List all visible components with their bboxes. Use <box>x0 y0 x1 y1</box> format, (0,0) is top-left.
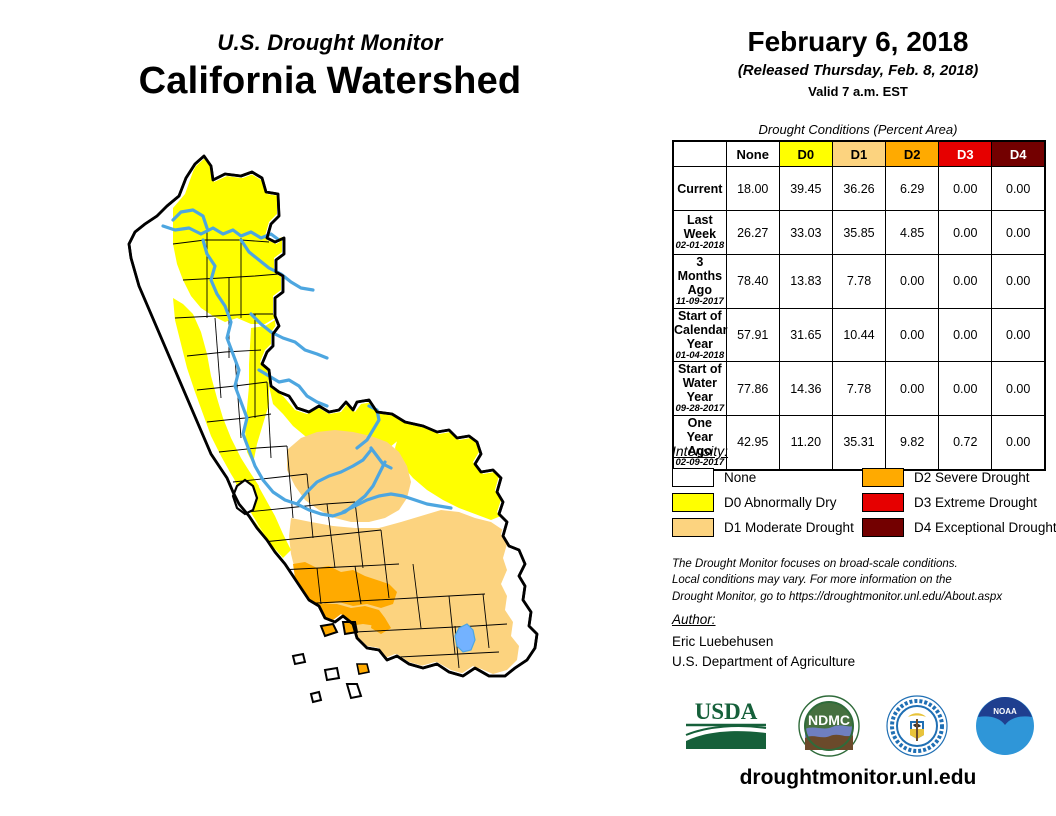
agency-logos: USDA NDMC <box>660 694 1056 758</box>
disclaimer-line-3: Drought Monitor, go to https://droughtmo… <box>672 589 1052 605</box>
map-panel: U.S. Drought Monitor California Watershe… <box>0 0 660 816</box>
info-panel: February 6, 2018 (Released Thursday, Feb… <box>660 0 1056 816</box>
legend-swatch-icon <box>862 518 904 537</box>
legend-item-right-0: D2 Severe Drought <box>862 465 1052 490</box>
cell-d3-3: 0.00 <box>939 308 992 362</box>
column-header-none: None <box>726 141 779 167</box>
website-url[interactable]: droughtmonitor.unl.edu <box>660 766 1056 790</box>
legend-swatch-icon <box>862 468 904 487</box>
legend-label: D2 Severe Drought <box>914 470 1030 485</box>
legend-swatch-icon <box>672 518 714 537</box>
cell-d2-3: 0.00 <box>886 308 939 362</box>
disclaimer-line-2: Local conditions may vary. For more info… <box>672 572 1052 588</box>
cell-d1-4: 7.78 <box>832 362 885 416</box>
cell-d4-4: 0.00 <box>992 362 1045 416</box>
cell-d3-2: 0.00 <box>939 255 992 309</box>
cell-d2-0: 6.29 <box>886 167 939 211</box>
row-label-line: 3 Months Ago <box>674 255 726 297</box>
row-label-line: Start of <box>674 362 726 376</box>
row-label-1: Last Week02-01-2018 <box>673 211 726 255</box>
legend-item-right-1: D3 Extreme Drought <box>862 490 1052 515</box>
cell-none-0: 18.00 <box>726 167 779 211</box>
cell-d4-1: 0.00 <box>992 211 1045 255</box>
table-body: Current18.0039.4536.266.290.000.00Last W… <box>673 167 1045 470</box>
ndmc-logo[interactable]: NDMC <box>798 695 860 757</box>
program-title: U.S. Drought Monitor <box>0 30 660 56</box>
report-date: February 6, 2018 <box>660 26 1056 58</box>
legend-column-right: D2 Severe DroughtD3 Extreme DroughtD4 Ex… <box>862 465 1052 540</box>
author-block: Eric Luebehusen U.S. Department of Agric… <box>672 632 855 671</box>
row-label-4: Start ofWater Year09-28-2017 <box>673 362 726 416</box>
legend-label: D3 Extreme Drought <box>914 495 1037 510</box>
row-label-3: Start ofCalendar Year01-04-2018 <box>673 308 726 362</box>
cell-d0-2: 13.83 <box>779 255 832 309</box>
svg-text:NDMC: NDMC <box>808 712 850 728</box>
legend-swatch-icon <box>672 468 714 487</box>
cell-d4-2: 0.00 <box>992 255 1045 309</box>
column-header-d4: D4 <box>992 141 1045 167</box>
legend-label: D0 Abnormally Dry <box>724 495 837 510</box>
row-label-line: Start of <box>674 309 726 323</box>
legend-swatch-icon <box>862 493 904 512</box>
noaa-logo[interactable]: NOAA <box>974 695 1036 757</box>
column-header-d0: D0 <box>779 141 832 167</box>
row-label-line: Last Week <box>674 213 726 241</box>
cell-d3-4: 0.00 <box>939 362 992 416</box>
report-valid-time: Valid 7 a.m. EST <box>660 84 1056 99</box>
cell-d2-2: 0.00 <box>886 255 939 309</box>
row-label-line: Current <box>674 182 726 196</box>
legend-swatch-icon <box>672 493 714 512</box>
cell-d0-4: 14.36 <box>779 362 832 416</box>
cell-d3-0: 0.00 <box>939 167 992 211</box>
legend-column-left: NoneD0 Abnormally DryD1 Moderate Drought <box>672 465 862 540</box>
usdc-seal-logo[interactable] <box>886 695 948 757</box>
legend-label: D4 Exceptional Drought <box>914 520 1056 535</box>
row-label-date: 02-01-2018 <box>674 241 726 252</box>
cell-d1-0: 36.26 <box>832 167 885 211</box>
row-label-line: Calendar Year <box>674 323 726 351</box>
row-label-line: Water Year <box>674 376 726 404</box>
legend-title: Intensity: <box>672 443 1052 459</box>
row-label-0: Current <box>673 167 726 211</box>
usda-logo[interactable]: USDA <box>680 695 772 757</box>
table-header-row: None D0 D1 D2 D3 D4 <box>673 141 1045 167</box>
cell-none-1: 26.27 <box>726 211 779 255</box>
cell-d1-2: 7.78 <box>832 255 885 309</box>
author-heading: Author: <box>672 612 716 627</box>
cell-d0-3: 31.65 <box>779 308 832 362</box>
cell-d4-0: 0.00 <box>992 167 1045 211</box>
d1-moderate-drought-regions <box>287 430 519 674</box>
table-row: Current18.0039.4536.266.290.000.00 <box>673 167 1045 211</box>
cell-none-3: 57.91 <box>726 308 779 362</box>
cell-d1-3: 10.44 <box>832 308 885 362</box>
cell-none-4: 77.86 <box>726 362 779 416</box>
author-org: U.S. Department of Agriculture <box>672 652 855 672</box>
table-row: 3 Months Ago11-09-201778.4013.837.780.00… <box>673 255 1045 309</box>
intensity-legend: Intensity: NoneD0 Abnormally DryD1 Moder… <box>672 443 1052 540</box>
legend-label: D1 Moderate Drought <box>724 520 854 535</box>
legend-item-right-2: D4 Exceptional Drought <box>862 515 1052 540</box>
row-label-date: 11-09-2017 <box>674 297 726 308</box>
author-name: Eric Luebehusen <box>672 632 855 652</box>
disclaimer-note: The Drought Monitor focuses on broad-sca… <box>672 556 1052 605</box>
cell-d1-1: 35.85 <box>832 211 885 255</box>
table-row: Last Week02-01-201826.2733.0335.854.850.… <box>673 211 1045 255</box>
cell-d0-0: 39.45 <box>779 167 832 211</box>
legend-item-left-2: D1 Moderate Drought <box>672 515 862 540</box>
cell-d2-1: 4.85 <box>886 211 939 255</box>
table-caption: Drought Conditions (Percent Area) <box>660 122 1056 137</box>
drought-monitor-page: U.S. Drought Monitor California Watershe… <box>0 0 1056 816</box>
disclaimer-line-1: The Drought Monitor focuses on broad-sca… <box>672 556 1052 572</box>
row-label-2: 3 Months Ago11-09-2017 <box>673 255 726 309</box>
table-row: Start ofWater Year09-28-201777.8614.367.… <box>673 362 1045 416</box>
column-header-d3: D3 <box>939 141 992 167</box>
table-row: Start ofCalendar Year01-04-201857.9131.6… <box>673 308 1045 362</box>
cell-d0-1: 33.03 <box>779 211 832 255</box>
table-corner-cell <box>673 141 726 167</box>
drought-conditions-table: None D0 D1 D2 D3 D4 Current18.0039.4536.… <box>672 140 1046 471</box>
cell-d2-4: 0.00 <box>886 362 939 416</box>
row-label-date: 01-04-2018 <box>674 351 726 362</box>
row-label-date: 09-28-2017 <box>674 404 726 415</box>
california-watershed-map[interactable] <box>55 118 635 808</box>
cell-none-2: 78.40 <box>726 255 779 309</box>
channel-islands-white <box>293 654 361 702</box>
channel-islands-orange-small <box>357 664 369 674</box>
cell-d3-1: 0.00 <box>939 211 992 255</box>
report-release-date: (Released Thursday, Feb. 8, 2018) <box>660 62 1056 79</box>
legend-item-left-1: D0 Abnormally Dry <box>672 490 862 515</box>
legend-item-left-0: None <box>672 465 862 490</box>
column-header-d1: D1 <box>832 141 885 167</box>
cell-d4-3: 0.00 <box>992 308 1045 362</box>
svg-text:NOAA: NOAA <box>993 707 1017 716</box>
column-header-d2: D2 <box>886 141 939 167</box>
svg-text:USDA: USDA <box>695 699 758 724</box>
page-title: California Watershed <box>0 60 660 103</box>
legend-label: None <box>724 470 756 485</box>
